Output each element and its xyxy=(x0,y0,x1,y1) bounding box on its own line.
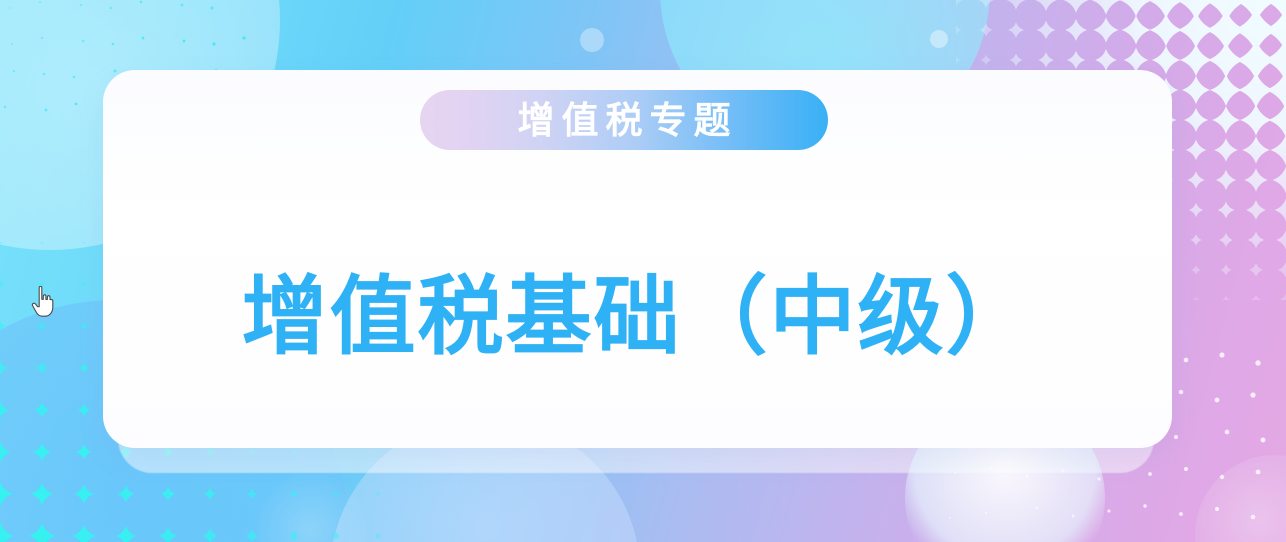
banner-stage: 增值税专题 增值税基础（中级） xyxy=(0,0,1286,542)
topic-badge: 增值税专题 xyxy=(420,90,828,150)
page-title: 增值税基础（中级） xyxy=(103,268,1172,367)
topic-badge-label: 增值税专题 xyxy=(511,102,738,139)
content-card: 增值税专题 增值税基础（中级） xyxy=(103,70,1172,448)
